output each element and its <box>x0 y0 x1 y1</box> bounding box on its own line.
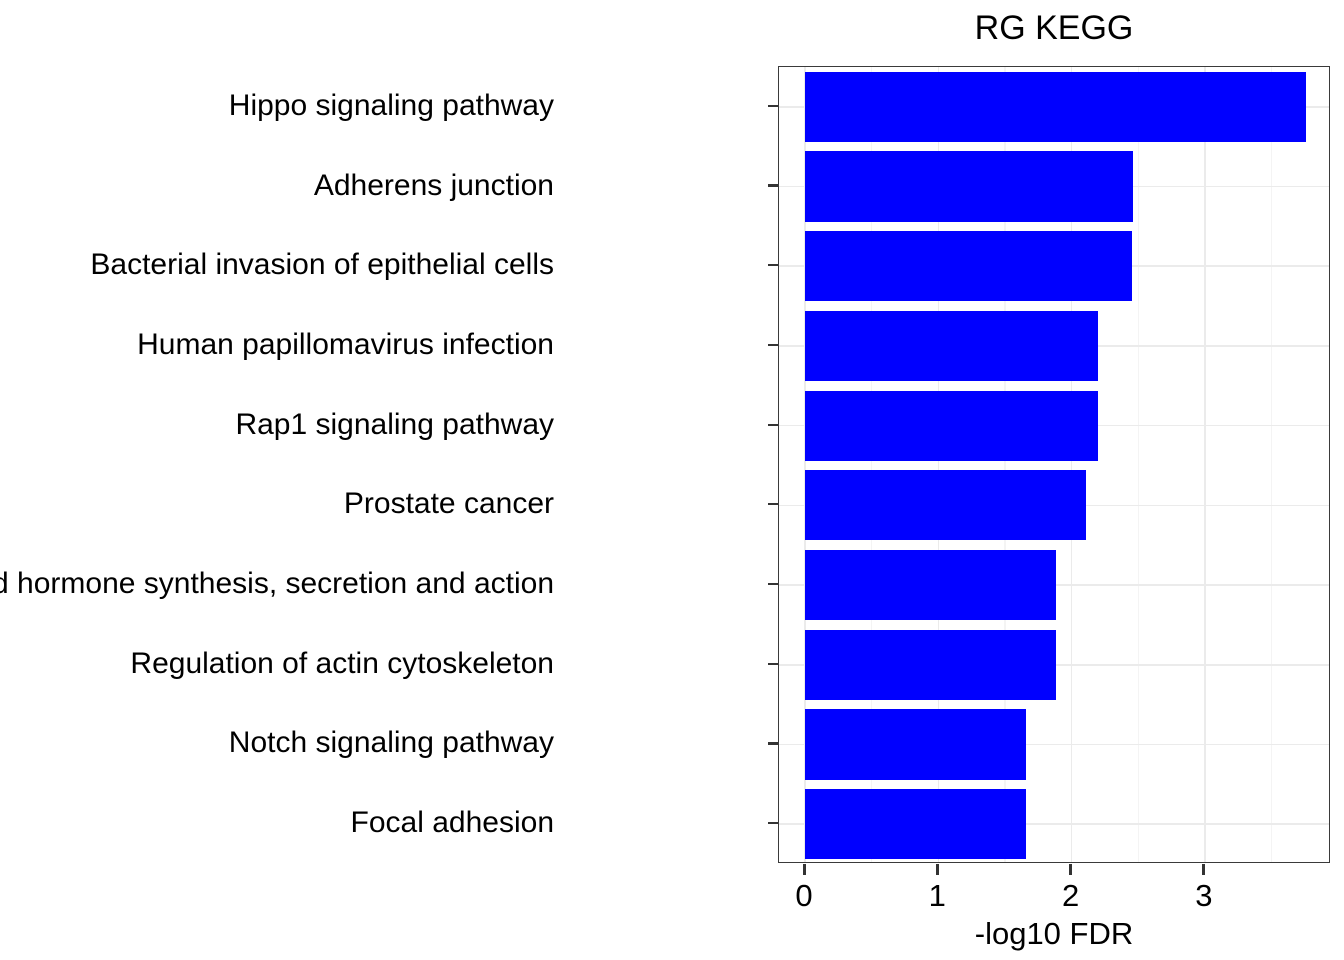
bar <box>805 151 1133 221</box>
x-tick-label: 3 <box>1174 878 1234 914</box>
y-tick-mark <box>768 264 778 266</box>
y-tick-label: Human papillomavirus infection <box>137 330 554 360</box>
y-tick-label: Parathyroid hormone synthesis, secretion… <box>0 569 554 599</box>
chart-title: RG KEGG <box>778 8 1330 48</box>
bar <box>805 72 1306 142</box>
y-tick-mark <box>768 184 778 186</box>
x-tick-mark <box>803 864 806 875</box>
y-tick-label: Focal adhesion <box>351 808 554 838</box>
x-tick-label: 1 <box>907 878 967 914</box>
y-tick-mark <box>768 105 778 107</box>
bar <box>805 789 1026 859</box>
y-tick-label: Prostate cancer <box>344 489 554 519</box>
plot-panel <box>778 66 1330 863</box>
bar <box>805 311 1098 381</box>
bar <box>805 231 1132 301</box>
y-tick-mark <box>768 424 778 426</box>
x-tick-mark <box>1202 864 1205 875</box>
bar <box>805 391 1098 461</box>
y-tick-label: Hippo signaling pathway <box>229 91 554 121</box>
x-axis-title: -log10 FDR <box>778 916 1330 952</box>
bar <box>805 470 1086 540</box>
y-tick-mark <box>768 344 778 346</box>
x-tick-label: 0 <box>774 878 834 914</box>
x-tick-mark <box>936 864 939 875</box>
y-tick-label: Rap1 signaling pathway <box>235 410 554 440</box>
y-tick-mark <box>768 503 778 505</box>
bar <box>805 550 1056 620</box>
y-tick-mark <box>768 822 778 824</box>
bar <box>805 709 1026 779</box>
y-tick-label: Regulation of actin cytoskeleton <box>130 649 554 679</box>
y-tick-label: Notch signaling pathway <box>229 728 554 758</box>
y-tick-mark <box>768 663 778 665</box>
bar <box>805 630 1056 700</box>
y-tick-label: Adherens junction <box>314 171 554 201</box>
x-tick-mark <box>1069 864 1072 875</box>
x-tick-label: 2 <box>1041 878 1101 914</box>
y-tick-label: Bacterial invasion of epithelial cells <box>90 250 554 280</box>
kegg-bar-chart: RG KEGG Hippo signaling pathwayAdherens … <box>0 0 1344 960</box>
y-tick-mark <box>768 742 778 744</box>
y-tick-mark <box>768 583 778 585</box>
